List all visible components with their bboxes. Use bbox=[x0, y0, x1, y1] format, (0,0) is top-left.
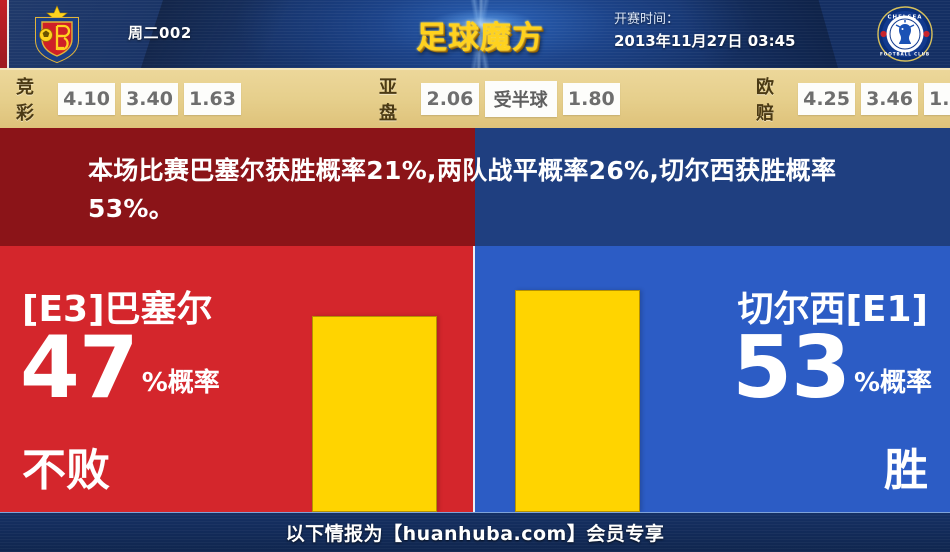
odds-european-draw[interactable]: 3.46 bbox=[861, 83, 918, 115]
kickoff-value: 2013年11月27日 03:45 bbox=[614, 30, 844, 52]
probability-summary-band: 本场比赛巴塞尔获胜概率21%,两队战平概率26%,切尔西获胜概率53%。 bbox=[0, 128, 950, 246]
odds-group-european: 欧赔 4.25 3.46 1.84 bbox=[756, 73, 950, 125]
odds-asian-handicap-value[interactable]: 受半球 bbox=[485, 81, 557, 117]
odds-jingcai-away[interactable]: 1.63 bbox=[184, 83, 241, 115]
odds-group-jingcai: 竞彩 4.10 3.40 1.63 bbox=[16, 73, 247, 125]
svg-text:FOOTBALL CLUB: FOOTBALL CLUB bbox=[880, 52, 930, 57]
kickoff-time-block: 开赛时间： 2013年11月27日 03:45 bbox=[614, 10, 844, 52]
kickoff-label: 开赛时间： bbox=[614, 10, 844, 30]
home-probability-suffix: %概率 bbox=[142, 362, 220, 408]
probability-chart: [E3]巴塞尔 47 %概率 不败 切尔西[E1] 53 %概率 胜 bbox=[0, 246, 950, 512]
brand-text: 足球魔方 bbox=[395, 12, 565, 57]
odds-label-asian-handicap: 亚盘 bbox=[379, 73, 412, 125]
odds-jingcai-home[interactable]: 4.10 bbox=[58, 83, 115, 115]
odds-label-jingcai: 竞彩 bbox=[16, 73, 49, 125]
odds-label-european: 欧赔 bbox=[756, 73, 789, 125]
footer-text: 以下情报为【huanhuba.com】会员专享 bbox=[286, 519, 665, 546]
header-left-accent-bar bbox=[0, 0, 7, 68]
summary-text: 本场比赛巴塞尔获胜概率21%,两队战平概率26%,切尔西获胜概率53%。 bbox=[88, 152, 878, 228]
chelsea-fc-crest-icon: CHELSEA FOOTBALL CLUB bbox=[876, 5, 934, 63]
away-probability-row: 53 %概率 bbox=[732, 328, 932, 408]
match-prediction-graphic: 周二002 足球魔方 开赛时间： 2013年11月27日 03:45 CHELS… bbox=[0, 0, 950, 552]
odds-european-away[interactable]: 1.84 bbox=[924, 83, 950, 115]
site-brand-logo: 足球魔方 bbox=[395, 4, 565, 64]
svg-text:CHELSEA: CHELSEA bbox=[887, 15, 922, 21]
odds-group-asian-handicap: 亚盘 2.06 受半球 1.80 bbox=[379, 73, 626, 125]
panel-divider bbox=[473, 246, 475, 512]
odds-european-home[interactable]: 4.25 bbox=[798, 83, 855, 115]
away-probability-suffix: %概率 bbox=[854, 362, 932, 408]
away-probability-value: 53 bbox=[732, 328, 850, 408]
away-verdict: 胜 bbox=[884, 434, 928, 498]
fc-basel-crest-icon bbox=[26, 4, 88, 64]
odds-bar: 竞彩 4.10 3.40 1.63 亚盘 2.06 受半球 1.80 欧赔 4.… bbox=[0, 68, 950, 128]
odds-asian-away[interactable]: 1.80 bbox=[563, 83, 620, 115]
home-probability-value: 47 bbox=[20, 328, 138, 408]
odds-asian-home[interactable]: 2.06 bbox=[421, 83, 478, 115]
footer-bar: 以下情报为【huanhuba.com】会员专享 bbox=[0, 512, 950, 552]
bar-away-probability bbox=[515, 290, 640, 512]
header-left-accent-line bbox=[7, 0, 9, 68]
match-number: 周二002 bbox=[128, 22, 192, 43]
home-probability-row: 47 %概率 bbox=[20, 328, 220, 408]
home-verdict: 不败 bbox=[22, 434, 110, 498]
odds-jingcai-draw[interactable]: 3.40 bbox=[121, 83, 178, 115]
match-header: 周二002 足球魔方 开赛时间： 2013年11月27日 03:45 CHELS… bbox=[0, 0, 950, 68]
bar-home-probability bbox=[312, 316, 437, 512]
